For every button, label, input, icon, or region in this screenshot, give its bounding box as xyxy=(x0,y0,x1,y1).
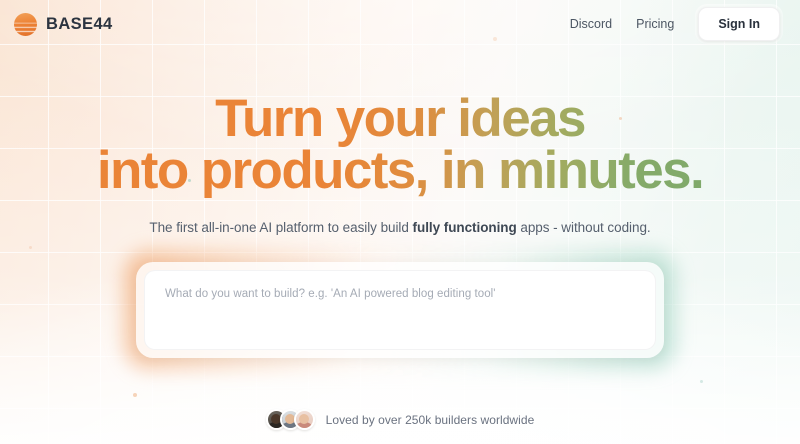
brand-logo[interactable]: BASE44 xyxy=(14,13,113,36)
main-nav: Discord Pricing Sign In xyxy=(570,7,780,41)
background-grid xyxy=(0,0,800,444)
avatar-group xyxy=(266,409,315,430)
headline-line-1: Turn your ideas xyxy=(97,93,703,145)
brand-name: BASE44 xyxy=(46,15,113,34)
subtitle-text-after: apps - without coding. xyxy=(517,220,651,235)
social-proof-text: Loved by over 250k builders worldwide xyxy=(326,413,535,427)
site-header: BASE44 Discord Pricing Sign In xyxy=(0,0,800,48)
decorative-speck xyxy=(700,380,703,383)
subtitle-text-before: The first all-in-one AI platform to easi… xyxy=(149,220,412,235)
prompt-placeholder-text: What do you want to build? e.g. 'An AI p… xyxy=(165,288,635,300)
subtitle-text-emphasis: fully functioning xyxy=(413,220,517,235)
prompt-input-container: What do you want to build? e.g. 'An AI p… xyxy=(136,262,664,358)
decorative-speck xyxy=(188,179,191,182)
page-root: BASE44 Discord Pricing Sign In Turn your… xyxy=(0,0,800,444)
decorative-speck xyxy=(29,246,32,249)
decorative-speck xyxy=(619,117,622,120)
hero-section: Turn your ideas into products, in minute… xyxy=(0,0,800,444)
hero-subtitle: The first all-in-one AI platform to easi… xyxy=(149,220,650,235)
nav-link-discord[interactable]: Discord xyxy=(570,17,612,31)
social-proof: Loved by over 250k builders worldwide xyxy=(0,409,800,430)
sign-in-button[interactable]: Sign In xyxy=(698,7,780,41)
headline-line-2: into products, in minutes. xyxy=(97,145,703,197)
decorative-speck xyxy=(133,393,137,397)
background-fade-overlay xyxy=(0,0,800,444)
page-title: Turn your ideas into products, in minute… xyxy=(97,93,703,198)
sunset-circle-icon xyxy=(14,13,37,36)
avatar xyxy=(294,409,315,430)
prompt-input[interactable]: What do you want to build? e.g. 'An AI p… xyxy=(144,270,656,350)
nav-link-pricing[interactable]: Pricing xyxy=(636,17,674,31)
